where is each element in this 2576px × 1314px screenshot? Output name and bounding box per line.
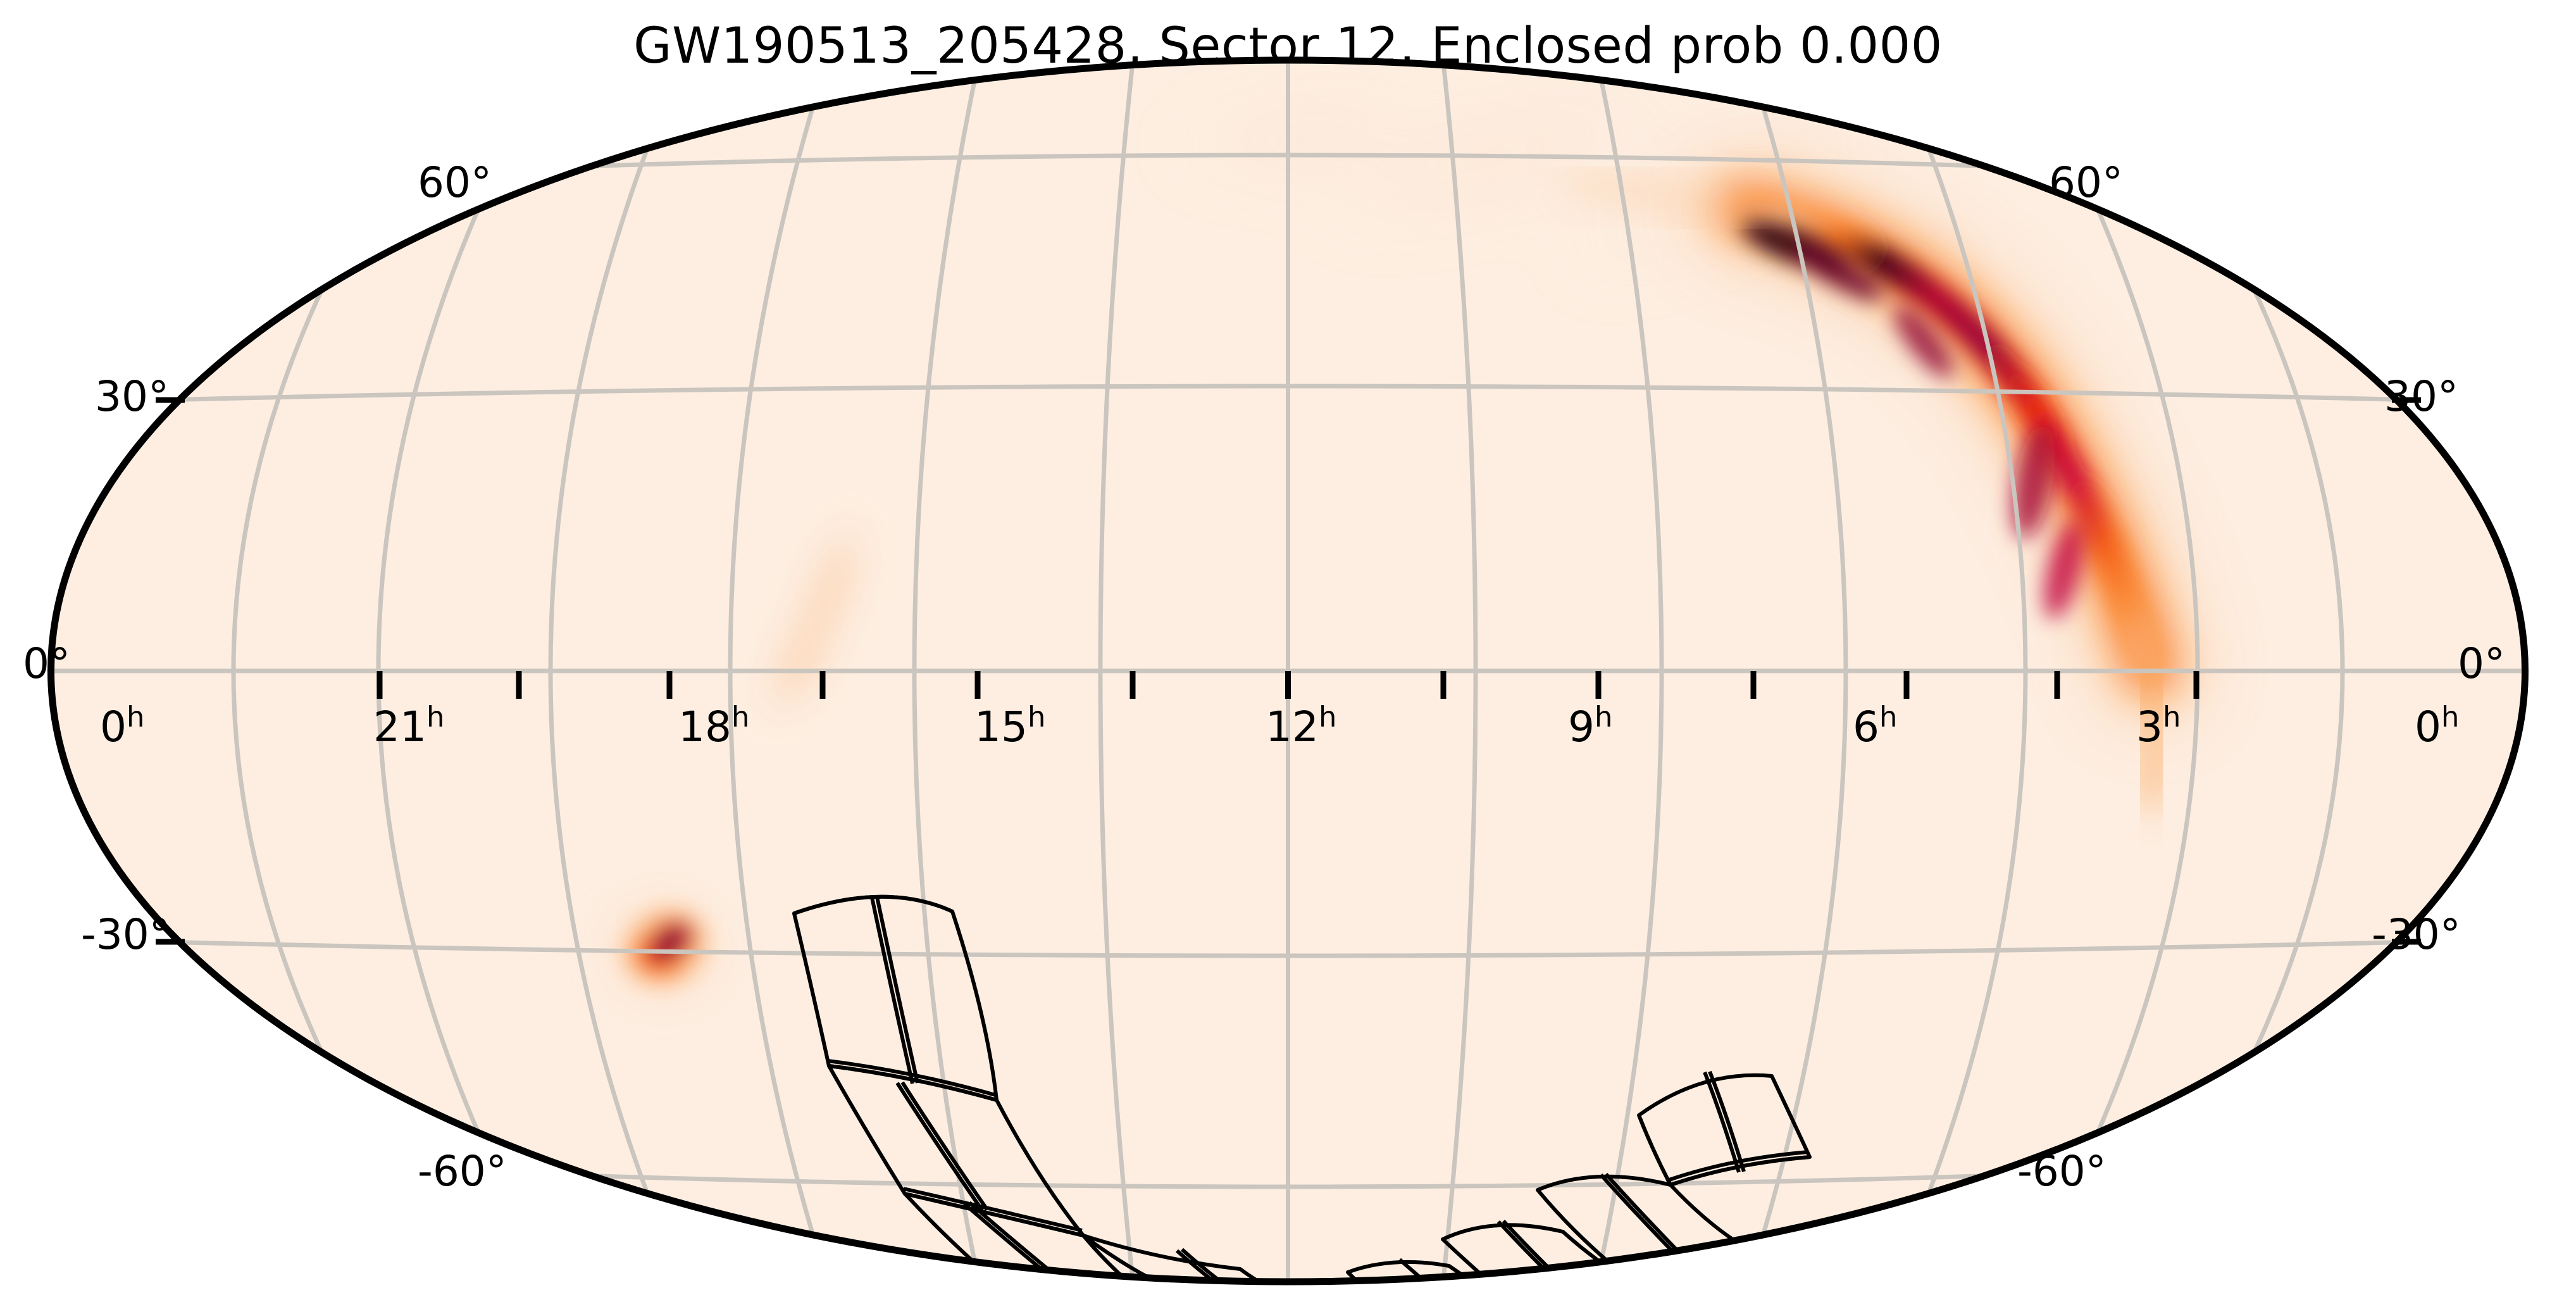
hour-superscript: h xyxy=(2163,700,2181,734)
ra-label-9h-value: 9 xyxy=(1568,703,1595,751)
ra-label-3h: 3h xyxy=(2136,703,2181,751)
dec-label-right-60: 60° xyxy=(2049,158,2123,207)
ra-label-15h: 15h xyxy=(974,703,1045,751)
dec-label-right-minus60: -60° xyxy=(2017,1147,2106,1196)
ra-label-21h: 21h xyxy=(373,703,444,751)
ra-label-12h: 12h xyxy=(1266,703,1336,751)
dec-label-right-0: 0° xyxy=(2458,639,2505,688)
dec-label-left-0: 0° xyxy=(23,639,70,688)
ra-label-18h: 18h xyxy=(678,703,749,751)
dec-label-left-minus60: -60° xyxy=(418,1147,507,1196)
dec-label-left-60: 60° xyxy=(418,158,492,207)
ra-label-0h-right-value: 0 xyxy=(2415,703,2441,751)
hour-superscript: h xyxy=(1595,700,1612,734)
ra-label-21h-value: 21 xyxy=(373,703,426,751)
ra-label-9h: 9h xyxy=(1568,703,1612,751)
hour-superscript: h xyxy=(1879,700,1897,734)
dec-label-left-minus30: -30° xyxy=(81,910,170,959)
ra-label-6h-value: 6 xyxy=(1853,703,1879,751)
dec-label-left-30: 30° xyxy=(95,372,169,421)
dec-label-right-30: 30° xyxy=(2384,372,2458,421)
ra-label-12h-value: 12 xyxy=(1266,703,1319,751)
hour-superscript: h xyxy=(426,700,444,734)
hour-superscript: h xyxy=(1028,700,1045,734)
ra-label-0h-left-value: 0 xyxy=(100,703,127,751)
dec-label-right-minus30: -30° xyxy=(2372,910,2461,959)
ra-label-15h-value: 15 xyxy=(974,703,1028,751)
ra-label-0h-left: 0h xyxy=(100,703,144,751)
hour-superscript: h xyxy=(1319,700,1336,734)
sky-map-figure: GW190513_205428, Sector 12, Enclosed pro… xyxy=(0,0,2576,1314)
ra-label-0h-right: 0h xyxy=(2415,703,2459,751)
hour-superscript: h xyxy=(2441,700,2459,734)
ra-label-3h-value: 3 xyxy=(2136,703,2163,751)
mollweide-sky-projection xyxy=(0,0,2576,1314)
ra-label-6h: 6h xyxy=(1853,703,1897,751)
hour-superscript: h xyxy=(127,700,144,734)
hour-superscript: h xyxy=(731,700,749,734)
ra-label-18h-value: 18 xyxy=(678,703,731,751)
